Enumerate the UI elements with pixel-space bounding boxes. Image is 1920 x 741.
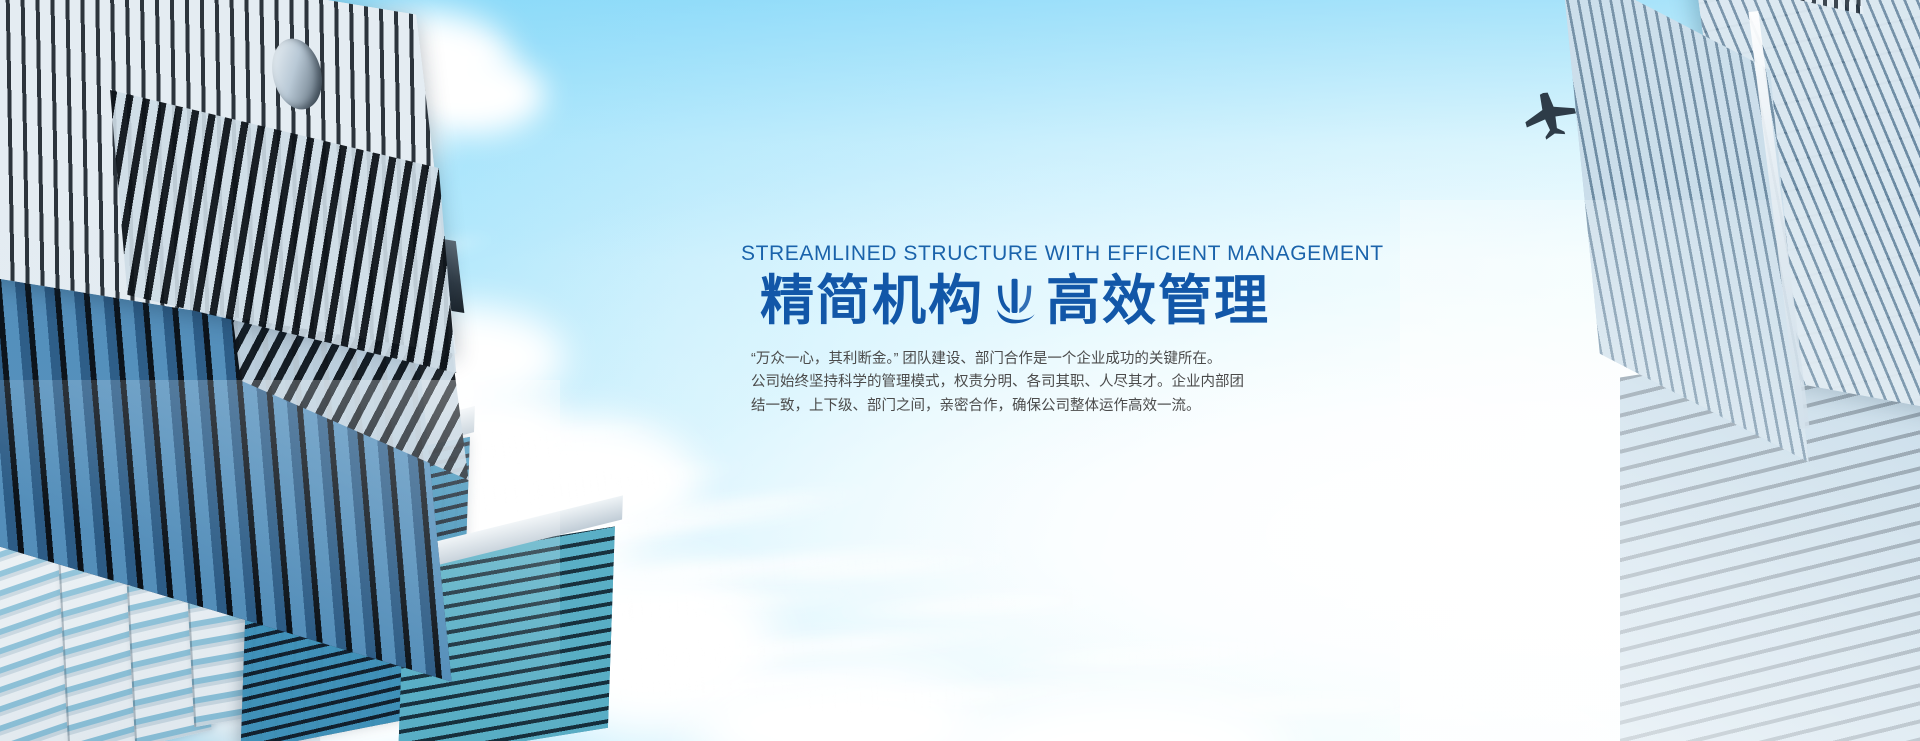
hero-body-copy: “万众一心，其利断金。” 团队建设、部门合作是一个企业成功的关键所在。 公司始终… — [751, 348, 1271, 420]
hero-copy-block: STREAMLINED STRUCTURE WITH EFFICIENT MAN… — [745, 242, 1285, 419]
skyscraper-left-icon — [0, 0, 430, 440]
hero-banner: STREAMLINED STRUCTURE WITH EFFICIENT MAN… — [0, 0, 1920, 741]
skyscraper-right-icon — [1520, 0, 1920, 430]
stylized-seal-ornament-icon — [994, 277, 1036, 325]
hero-eyebrow: STREAMLINED STRUCTURE WITH EFFICIENT MAN… — [741, 242, 1285, 265]
body-line: “万众一心，其利断金。” 团队建设、部门合作是一个企业成功的关键所在。 — [751, 348, 1271, 372]
headline-left-text: 精简机构 — [760, 271, 984, 331]
body-line: 结一致，上下级、部门之间，亲密合作，确保公司整体运作高效一流。 — [751, 395, 1271, 419]
body-line: 公司始终坚持科学的管理模式，权责分明、各司其职、人尽其才。企业内部团 — [751, 371, 1271, 395]
headline-right-text: 高效管理 — [1046, 271, 1270, 331]
hero-headline: 精简机构 高效管理 — [745, 271, 1285, 331]
